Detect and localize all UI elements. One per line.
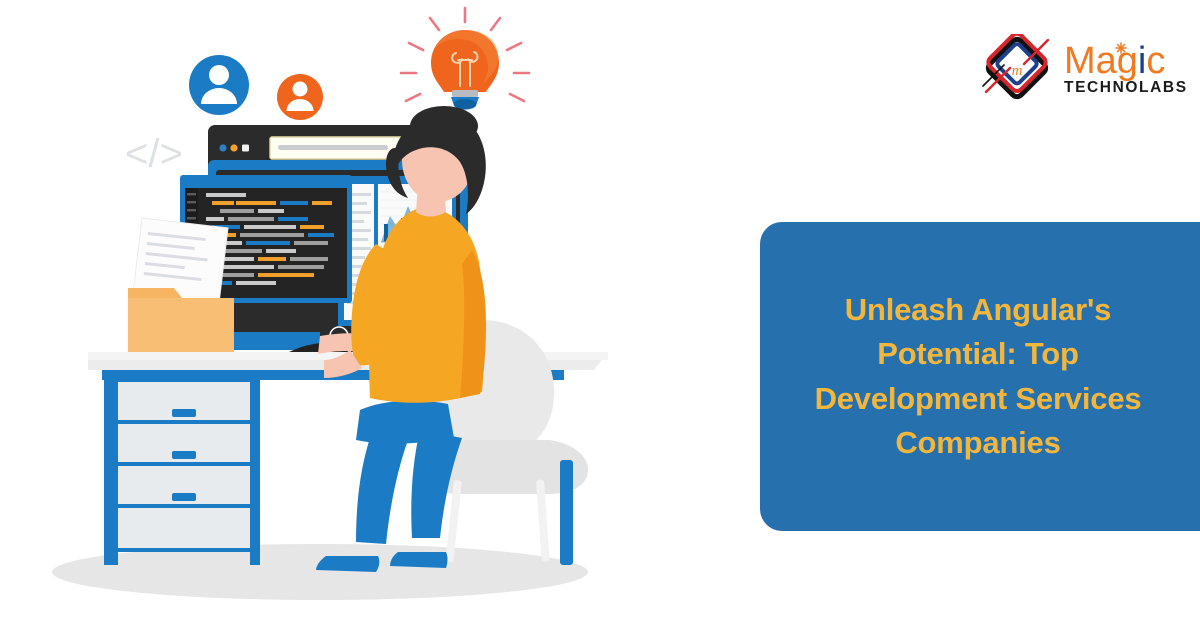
brand-name-part2: c	[1146, 40, 1165, 82]
browser-dot-blue	[219, 144, 226, 151]
desk-leg-left	[104, 380, 118, 565]
brand-name-part1: Mag	[1064, 40, 1138, 82]
hero-illustration: </>	[20, 0, 660, 628]
poster-canvas: </>	[0, 0, 1200, 628]
headline-title: Unleash Angular's Potential: Top Develop…	[813, 288, 1143, 465]
browser-dot-orange	[230, 144, 237, 151]
brand-logo[interactable]: m Magic TECHNOLABS	[980, 28, 1180, 108]
browser-dot-white	[242, 145, 249, 152]
user-avatar-orange-icon	[277, 74, 323, 120]
brand-name-letter-i: i	[1138, 40, 1146, 82]
brand-name: Magic	[1064, 41, 1165, 81]
bulb-metal-base	[452, 90, 478, 97]
code-symbol-icon: </>	[125, 132, 183, 176]
ground-shadow	[52, 544, 588, 600]
user-avatar-blue-icon	[189, 55, 249, 115]
diamond-m-glyph: m	[1012, 63, 1023, 79]
idea-lightbulb-icon	[401, 8, 529, 110]
headline-panel: Unleash Angular's Potential: Top Develop…	[760, 222, 1200, 531]
brand-wordmark: Magic TECHNOLABS	[1064, 39, 1188, 97]
desk-leg-right	[250, 380, 260, 565]
svg-text:</>: </>	[125, 132, 183, 176]
desk-drawers	[114, 380, 254, 550]
orange-folder-icon	[128, 288, 234, 356]
magic-technolabs-diamond-mark-icon: m	[980, 34, 1054, 102]
chair-leg-blue	[560, 460, 573, 565]
